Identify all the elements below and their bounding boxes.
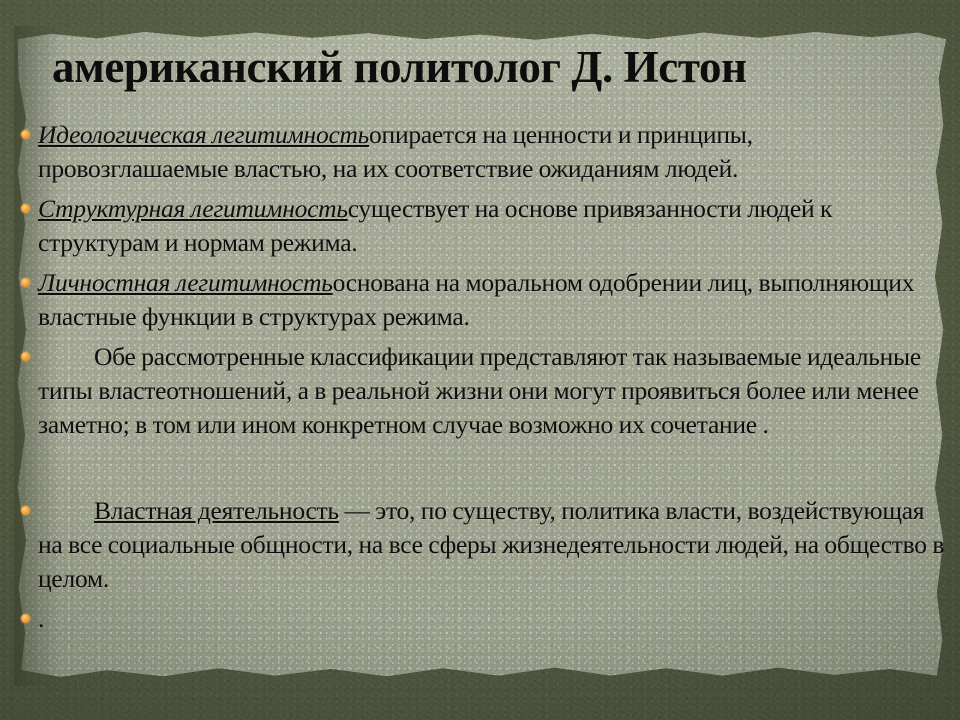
dot-bullet-icon [21,204,30,213]
list-item-text: Структурная легитимностьсуществует на ос… [38,192,948,260]
list-item-text: . [38,602,948,636]
slide-content: американский политолог Д. Истон Идеологи… [0,0,960,720]
emphasised-term: Структурная легитимность [38,194,348,223]
emphasised-term: Властная деятельность [94,496,339,525]
dot-bullet-icon [21,352,30,361]
emphasised-term: Личностная легитимность [38,268,333,297]
dot-bullet-icon [21,130,30,139]
list-item: Властная деятельность — это, по существу… [8,494,948,596]
list-item-text: Обе рассмотренные классификации представ… [38,340,948,442]
list-item-text: Властная деятельность — это, по существу… [38,494,948,596]
dot-bullet-icon [21,506,30,515]
list-item-body: Обе рассмотренные классификации представ… [38,342,921,439]
list-item-text: Идеологическая легитимностьопирается на … [38,118,948,186]
bullet-list: Идеологическая легитимностьопирается на … [8,118,948,642]
dot-bullet-icon [21,278,30,287]
list-item: Обе рассмотренные классификации представ… [8,340,948,442]
page-title: американский политолог Д. Истон [52,44,932,91]
list-item: Структурная легитимностьсуществует на ос… [8,192,948,260]
list-item-body: . [38,604,44,633]
dot-bullet-icon [21,614,30,623]
list-item: Личностная легитимностьоснована на морал… [8,266,948,334]
list-item: Идеологическая легитимностьопирается на … [8,118,948,186]
slide-canvas: американский политолог Д. Истон Идеологи… [0,0,960,720]
list-item: . [8,602,948,636]
emphasised-term: Идеологическая легитимность [38,120,369,149]
list-item-text: Личностная легитимностьоснована на морал… [38,266,948,334]
